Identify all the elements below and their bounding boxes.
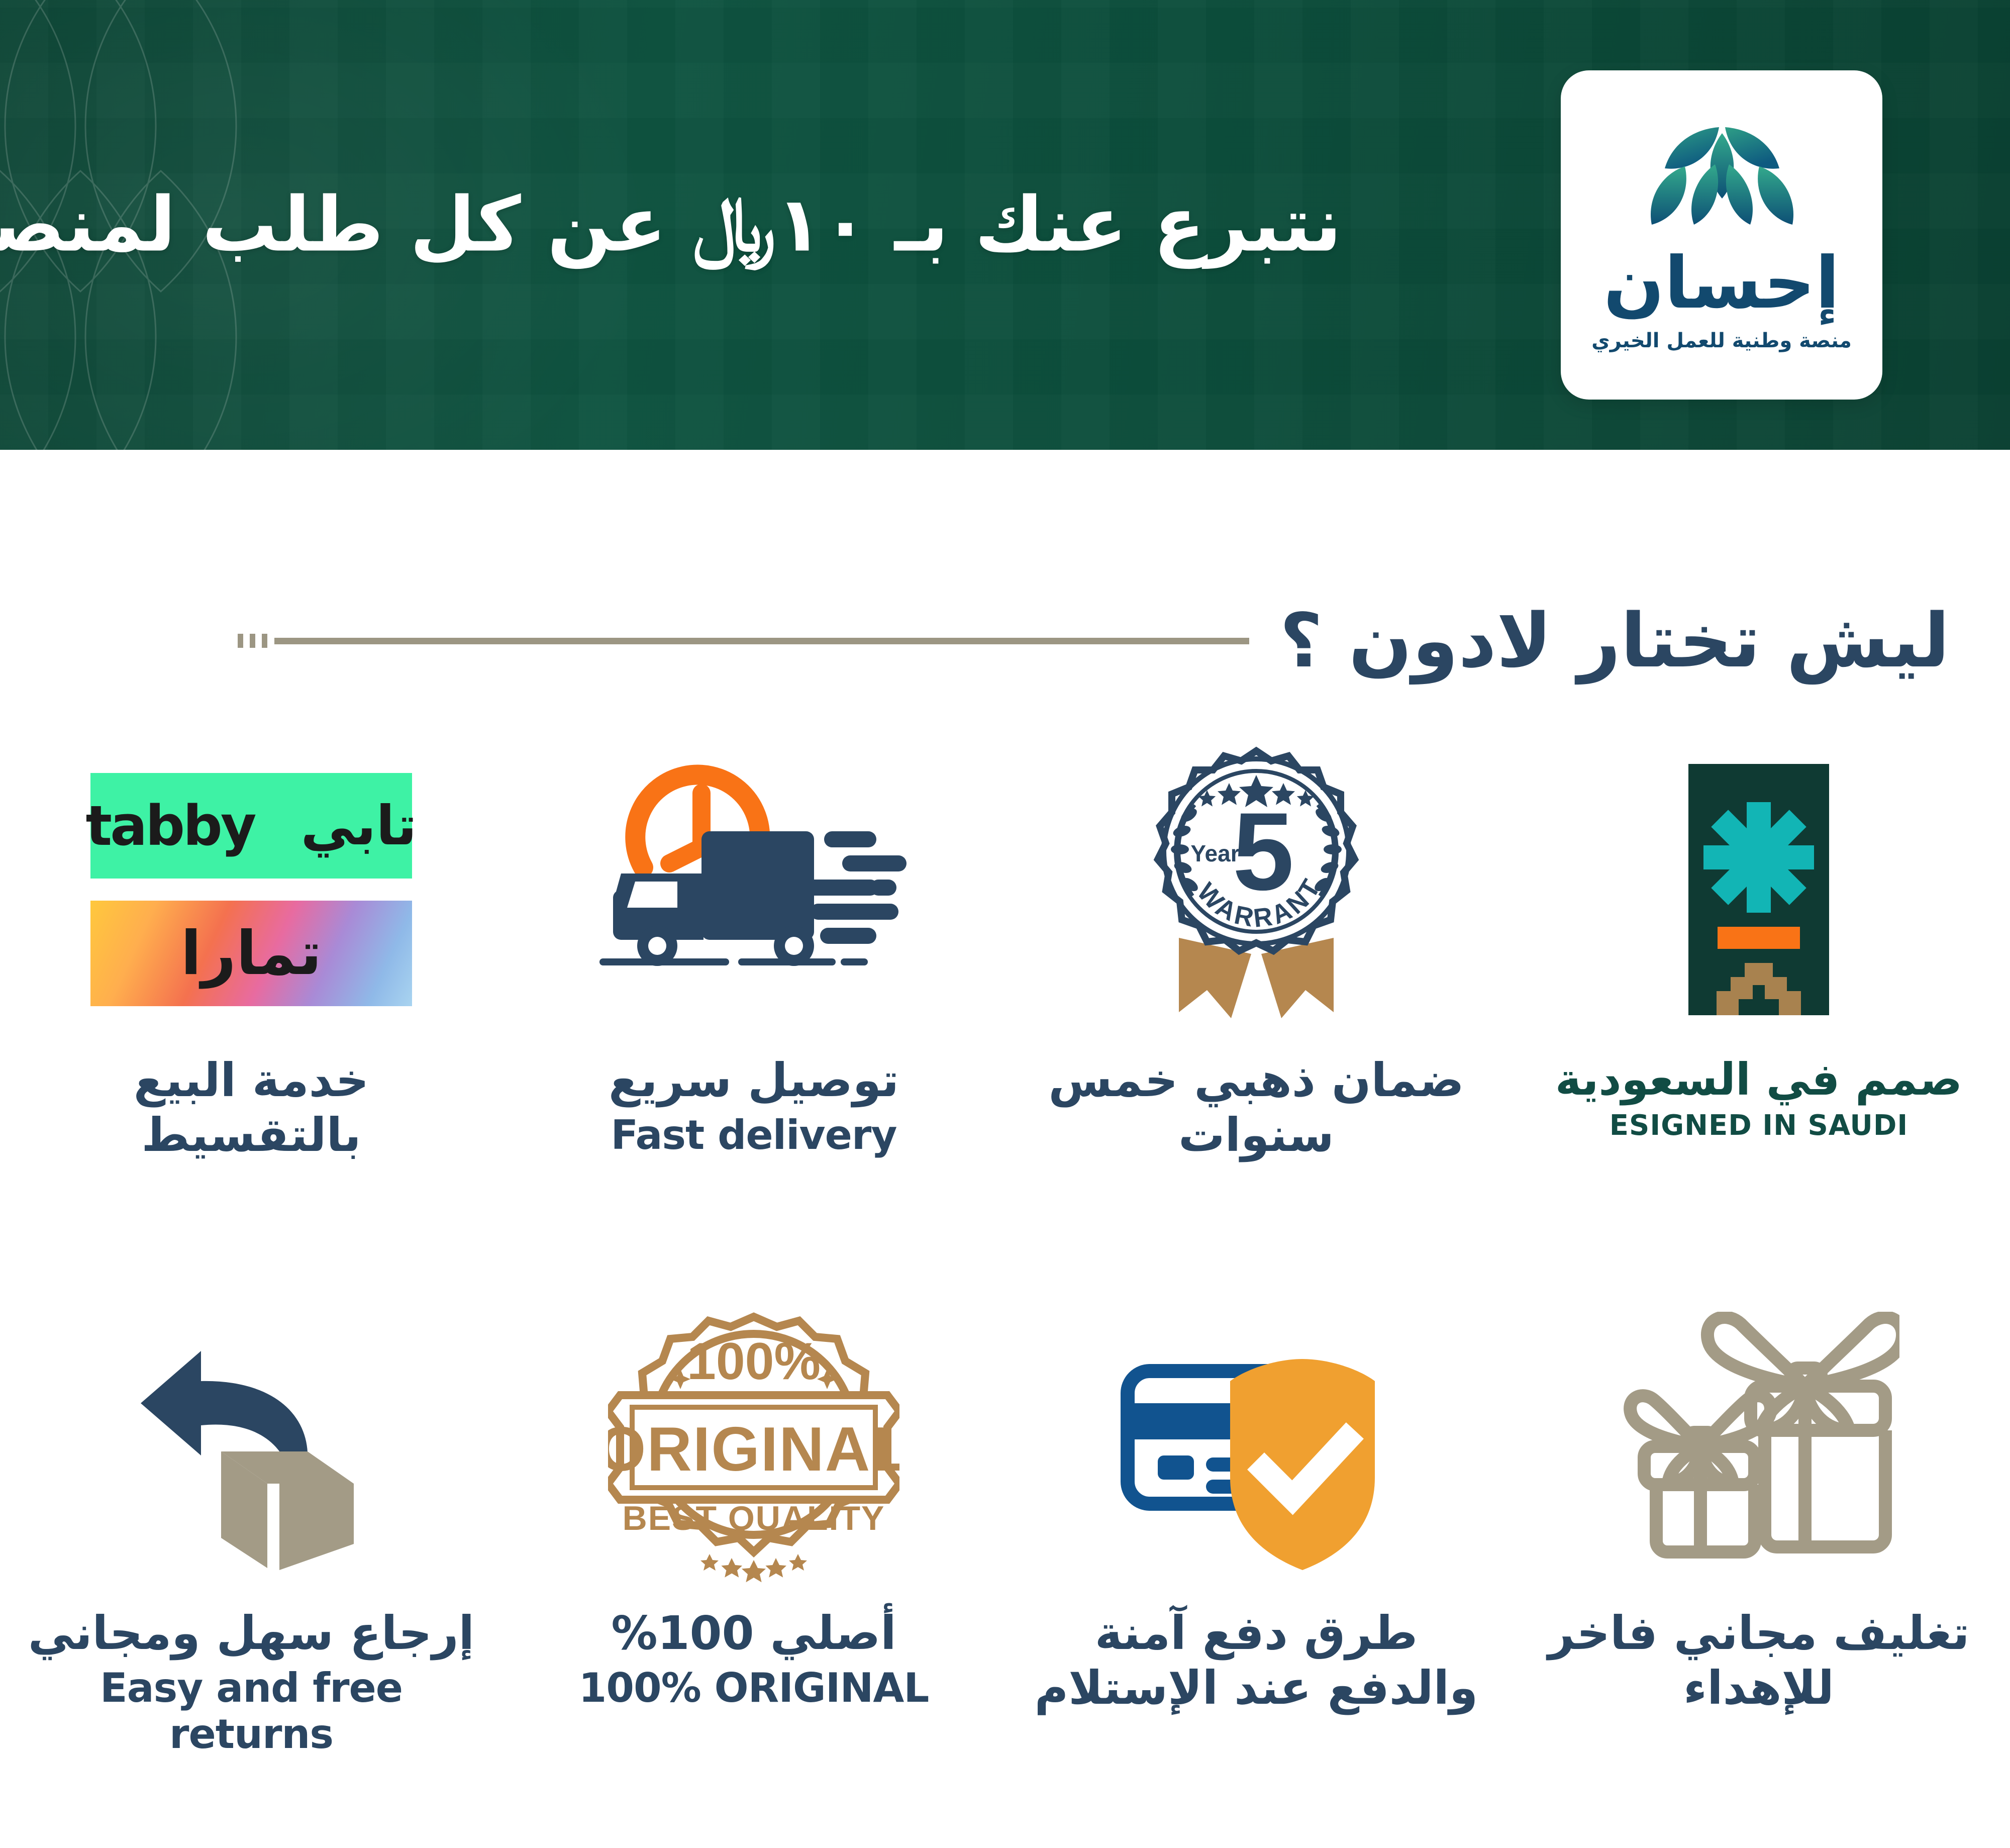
features-grid: tabby تابي تمارا خدمة البيع بالتقسيط	[0, 729, 2010, 1839]
ehsan-logo-card: إحسان منصة وطنية للعمل الخيري	[1561, 70, 1882, 400]
tamara-wordmark-ar: تمارا	[181, 919, 322, 989]
ehsan-wordmark: إحسان	[1603, 248, 1840, 319]
feature-designed-in-saudi: صمم في السعودية ESIGNED IN SAUDI	[1507, 729, 2010, 1292]
original-quality-stamp-icon: 100% ORIGINAL BEST QUALITY	[608, 1292, 899, 1603]
feature-original: 100% ORIGINAL BEST QUALITY أصلي 100% 100…	[502, 1292, 1005, 1839]
feature-label-designed-in-saudi: صمم في السعودية	[1555, 1053, 1962, 1106]
gift-boxes-icon	[1618, 1292, 1899, 1603]
feature-warranty: 5 Year WARRANTY ضمان ذهبي خمس سنوات	[1005, 729, 1507, 1292]
five-year-warranty-badge-icon: 5 Year WARRANTY	[1111, 729, 1402, 1050]
delivery-truck-clock-icon	[583, 729, 925, 1050]
title-rule-dots	[238, 634, 267, 648]
feature-label-free-returns: إرجاع سهل ومجاني	[28, 1606, 474, 1661]
stamp-percent: 100%	[687, 1332, 821, 1391]
ehsan-leaf-icon	[1639, 118, 1804, 244]
feature-free-returns: إرجاع سهل ومجاني Easy and free returns	[0, 1292, 502, 1839]
feature-label-secure-payment: طرق دفع آمنة والدفع عند الإستلام	[1025, 1606, 1487, 1715]
stamp-main: ORIGINAL	[608, 1415, 899, 1484]
feature-gift-wrapping: تغليف مجاني فاخر للإهداء	[1507, 1292, 2010, 1839]
feature-label-fast-delivery: توصيل سريع	[609, 1053, 899, 1108]
title-decorative-rule	[238, 634, 1249, 648]
feature-installments: tabby تابي تمارا خدمة البيع بالتقسيط	[0, 729, 502, 1292]
feature-sublabel-fast-delivery: Fast delivery	[611, 1112, 896, 1158]
page-title: ليش تختار لادون ؟	[1279, 598, 1950, 684]
warranty-number: 5	[1233, 790, 1294, 913]
tabby-tamara-logos: tabby تابي تمارا	[90, 729, 412, 1050]
tabby-wordmark-ar: تابي	[301, 795, 417, 857]
banner-message: نتبرع عنك بـ ١٠﷼ عن كل طلب لمنصة إحسان	[95, 179, 1342, 271]
title-rule-bar	[274, 638, 1249, 644]
tabby-wordmark-en: tabby	[86, 794, 255, 858]
feature-secure-payment: طرق دفع آمنة والدفع عند الإستلام	[1005, 1292, 1507, 1839]
feature-label-warranty: ضمان ذهبي خمس سنوات	[1025, 1053, 1487, 1162]
feature-sublabel-original: 100% ORIGINAL	[579, 1665, 929, 1711]
section-title-row: ليش تختار لادون ؟	[0, 578, 2010, 704]
return-box-arrow-icon	[111, 1292, 392, 1603]
tamara-logo: تمارا	[90, 901, 412, 1006]
feature-label-gift-wrapping: تغليف مجاني فاخر للإهداء	[1528, 1606, 1990, 1715]
warranty-unit: Year	[1190, 840, 1239, 866]
secure-payment-shield-icon	[1105, 1292, 1407, 1603]
designed-in-saudi-badge-icon	[1658, 729, 1859, 1050]
feature-fast-delivery: توصيل سريع Fast delivery	[502, 729, 1005, 1292]
tabby-logo: tabby تابي	[90, 773, 412, 879]
stamp-sub: BEST QUALITY	[623, 1499, 885, 1537]
ehsan-tagline: منصة وطنية للعمل الخيري	[1591, 329, 1852, 352]
feature-label-original: أصلي 100%	[611, 1606, 896, 1661]
feature-label-installments: خدمة البيع بالتقسيط	[20, 1053, 482, 1162]
feature-sublabel-designed-in-saudi: ESIGNED IN SAUDI	[1610, 1110, 1908, 1142]
promo-banner: نتبرع عنك بـ ١٠﷼ عن كل طلب لمنصة إحسان	[0, 0, 2010, 450]
feature-sublabel-free-returns: Easy and free returns	[20, 1665, 482, 1758]
